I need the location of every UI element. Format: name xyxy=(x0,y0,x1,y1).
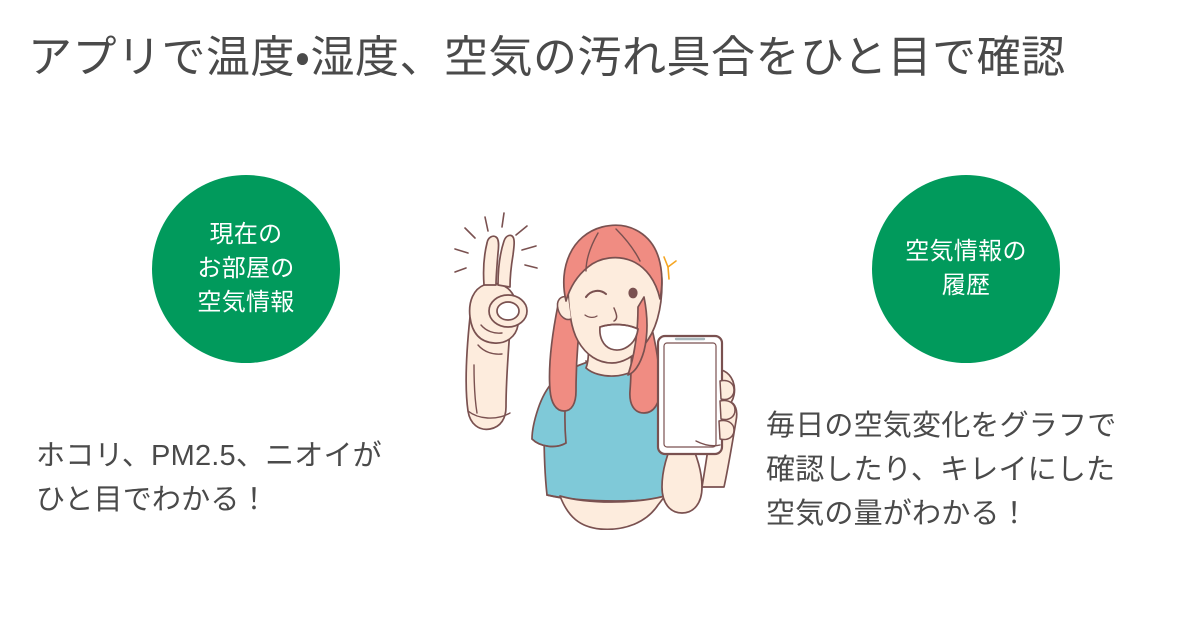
description-line: ひと目でわかる！ xyxy=(36,478,382,522)
page-root: アプリで温度・湿度、空気の汚れ具合をひと目で確認 現在の お部屋の 空気情報 空… xyxy=(0,0,1200,630)
feature-badge-current-room-air: 現在の お部屋の 空気情報 xyxy=(152,175,340,363)
description-line: 毎日の空気変化をグラフで xyxy=(766,404,1116,448)
index-finger xyxy=(484,236,499,285)
illustration-woman-ok-gesture-holding-smartphone xyxy=(448,205,758,530)
description-line: ホコリ、PM2.5、ニオイが xyxy=(36,434,382,478)
feature-badge-air-info-history: 空気情報の 履歴 xyxy=(872,175,1060,363)
ok-ring-hole xyxy=(497,302,519,320)
badge-line: 空気情報 xyxy=(197,286,294,320)
right-eye xyxy=(628,288,637,299)
feature-description-current-room-air: ホコリ、PM2.5、ニオイが ひと目でわかる！ xyxy=(36,434,382,522)
badge-line: 空気情報の xyxy=(905,235,1027,269)
page-title: アプリで温度・湿度、空気の汚れ具合をひと目で確認 xyxy=(28,30,1178,85)
middle-finger xyxy=(498,235,514,287)
description-line: 確認したり、キレイにした xyxy=(766,448,1116,492)
star-sparkle-icon xyxy=(664,257,676,279)
badge-line: 現在の xyxy=(210,218,283,252)
smartphone-icon xyxy=(658,336,722,454)
phone-grip-fingers xyxy=(719,380,735,439)
badge-line: お部屋の xyxy=(197,252,294,286)
feature-description-air-info-history: 毎日の空気変化をグラフで 確認したり、キレイにした 空気の量がわかる！ xyxy=(766,404,1116,536)
woman-illustration-svg xyxy=(448,205,758,530)
badge-line: 履歴 xyxy=(942,269,991,303)
description-line: 空気の量がわかる！ xyxy=(766,492,1116,536)
